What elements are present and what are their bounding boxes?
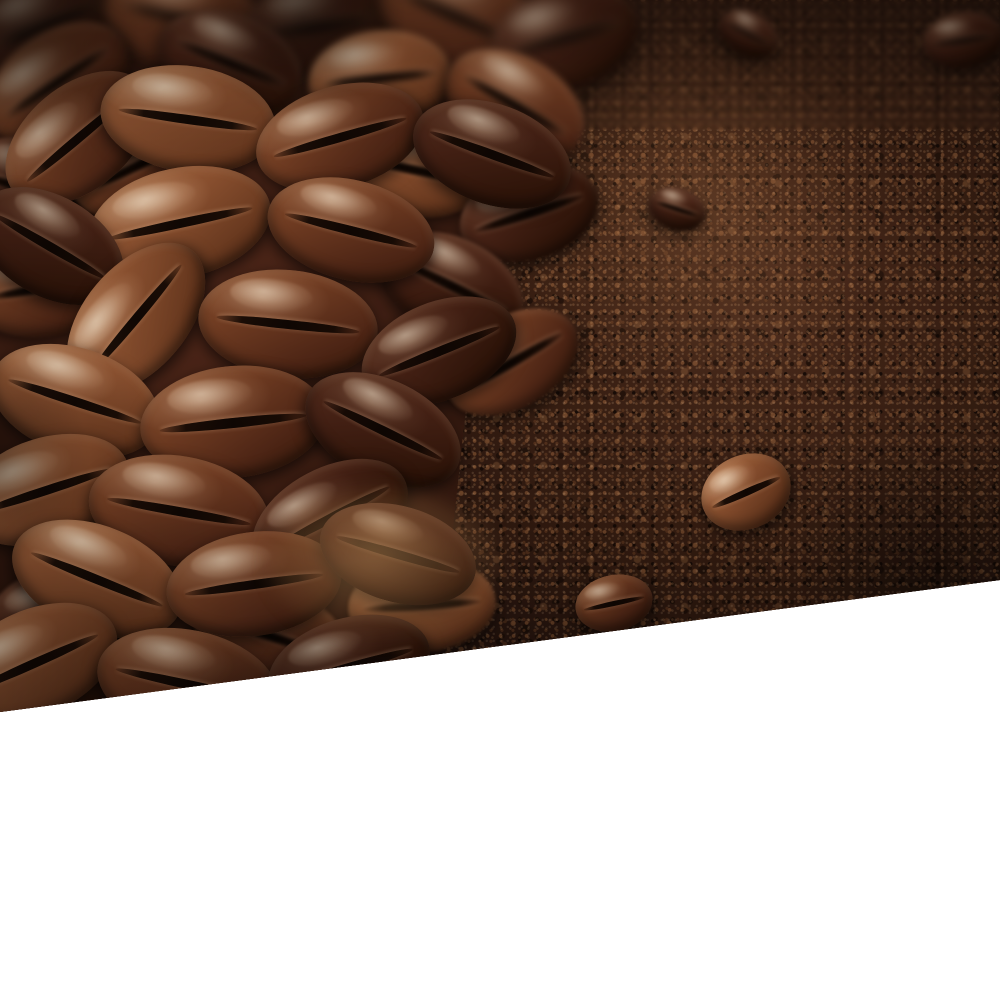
product-feature-card: Ground Coffee or Beans Grind your favour… (0, 0, 1000, 1000)
caption-block: Ground Coffee or Beans Grind your favour… (0, 715, 1000, 1000)
coffee-beans-and-grounds-photo (0, 0, 1000, 715)
defocused-warm-patch (270, 490, 500, 640)
whole-beans-region (0, 0, 610, 715)
